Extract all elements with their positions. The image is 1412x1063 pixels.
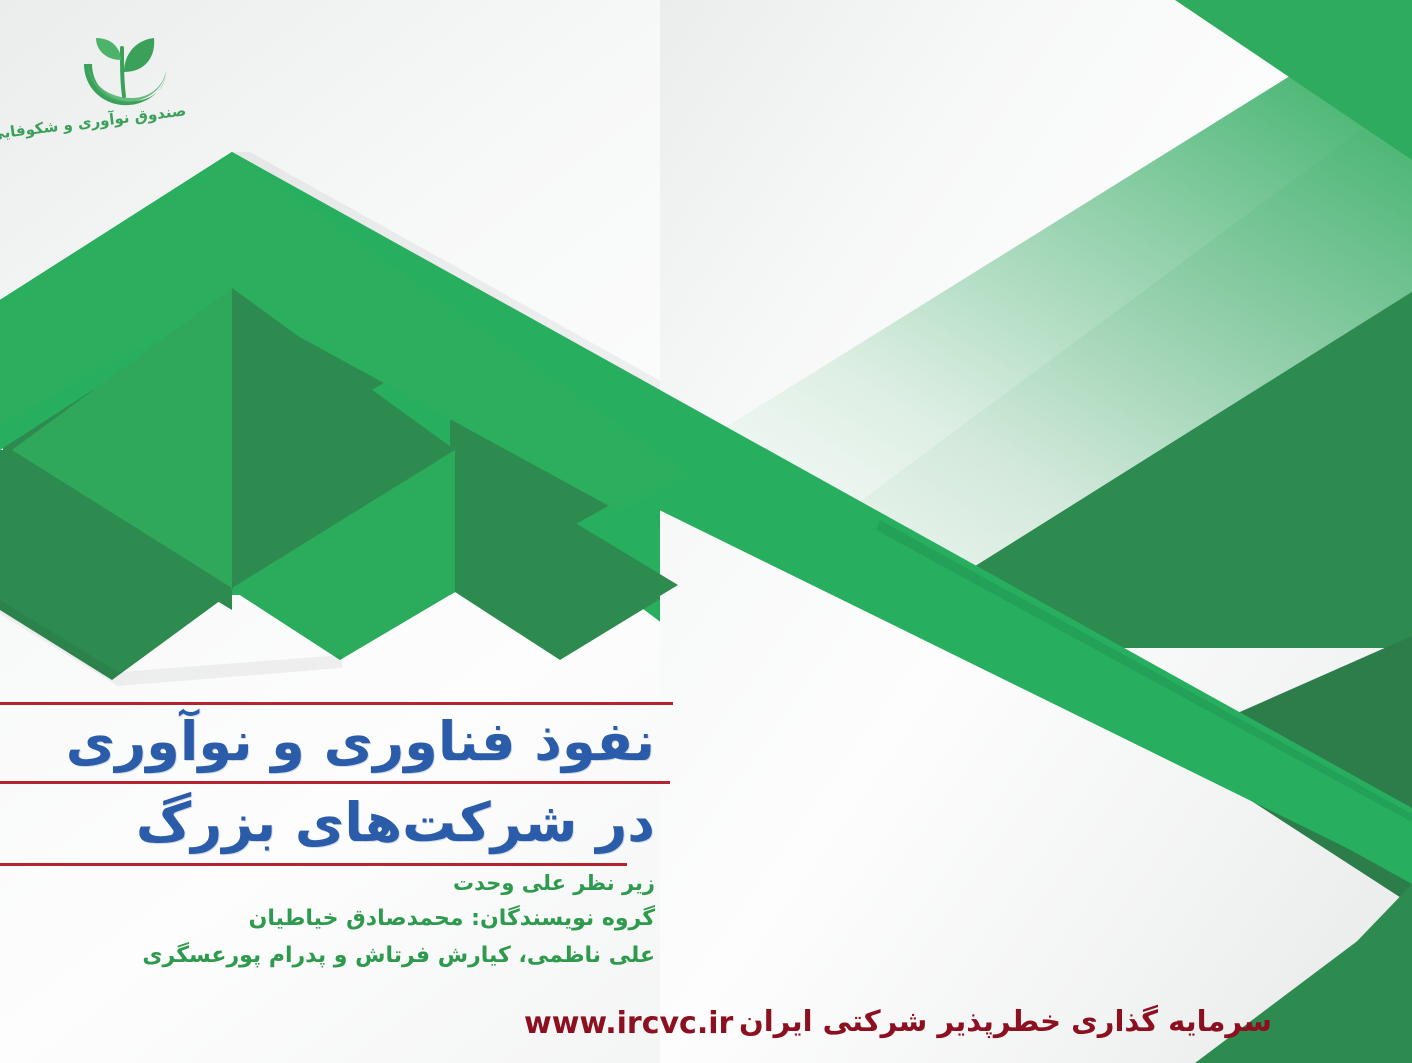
shape-right-dark-panel <box>640 0 1412 775</box>
shape-right-reset <box>660 0 1412 1063</box>
shape-second-peak-dark <box>450 345 672 595</box>
shape-bottomleft-dark-quad-2 <box>112 520 232 680</box>
shape-I2-rhombus-light <box>12 288 455 588</box>
shape-I3-rhombus-dark <box>232 288 455 588</box>
footer-tagline: سرمایه گذاری خطرپذیر شرکتی ایران <box>739 1004 1272 1038</box>
shape-stripe-right-sliver <box>848 518 1412 884</box>
shape-mountain-shadow <box>0 600 342 686</box>
shape-peak-left-face <box>0 152 232 450</box>
shape-right-slab-over <box>912 330 1412 790</box>
shape-left-lower-dark <box>0 345 232 610</box>
shape-group-mountain-final <box>0 152 690 672</box>
shape-I5-bright-tri <box>232 450 455 655</box>
shape-peak-ridge <box>0 152 680 478</box>
footer-website-url[interactable]: www.ircvc.ir <box>524 1006 733 1041</box>
shape-E-br-darker-wedge <box>1165 636 1412 905</box>
shape-peak-inner-dark-right <box>232 290 450 540</box>
shape-pale-gradient-band <box>660 0 1412 612</box>
shape-left-dark-wing <box>0 453 232 673</box>
shape-mid-lower-bright <box>232 345 450 595</box>
shape-D-right-dark-lower <box>902 292 1412 648</box>
shape-peak-inner-light <box>18 152 450 470</box>
shape-right-bright-triangle <box>232 453 455 660</box>
shape-I6-right-dark-tri <box>455 450 678 655</box>
shape-right-back-slab <box>880 60 1412 830</box>
shape-inner-rhombus-dark <box>232 290 455 590</box>
credit-authors-lead: گروه نویسندگان: محمدصادق خیاطیان <box>249 906 655 931</box>
shape-br-dark-wedge <box>1130 560 1412 860</box>
title-rule-top <box>0 702 673 705</box>
book-title-line-1: نفوذ فناوری و نوآوری <box>66 715 655 769</box>
book-cover: صندوق نوآوری و شکوفایی نفوذ فناوری و نوآ… <box>0 0 1412 1063</box>
book-title-line-2: در شرکت‌های بزرگ <box>136 796 655 850</box>
shape-H-br-dark-triangle <box>1195 900 1412 1063</box>
title-rule-middle <box>0 781 670 784</box>
shape-A-right-dark <box>855 92 1412 640</box>
shape-inner-rhombus-light <box>10 290 455 590</box>
shape-group-left-mountain <box>0 152 680 673</box>
fund-logo: صندوق نوآوری و شکوفایی <box>58 26 208 151</box>
credit-supervisor: زیر نظر علی وحدت <box>453 871 655 895</box>
credit-authors-rest: علی ناظمی، کیارش فرتاش و پدرام پورعسگری <box>142 943 655 968</box>
title-block: نفوذ فناوری و نوآوری در شرکت‌های بزرگ زی… <box>0 688 700 988</box>
title-rule-bottom <box>0 863 627 866</box>
shape-bottomleft-dark-quad <box>0 455 112 680</box>
shape-far-right-dark-triangle <box>455 453 678 660</box>
shape-C-topright-green <box>1175 0 1412 160</box>
shape-stripe-bevel <box>876 520 1412 822</box>
shape-I1-ridge <box>0 152 690 512</box>
shape-I4-left-wing <box>0 450 232 672</box>
shape-B-pale-band <box>660 0 1412 612</box>
